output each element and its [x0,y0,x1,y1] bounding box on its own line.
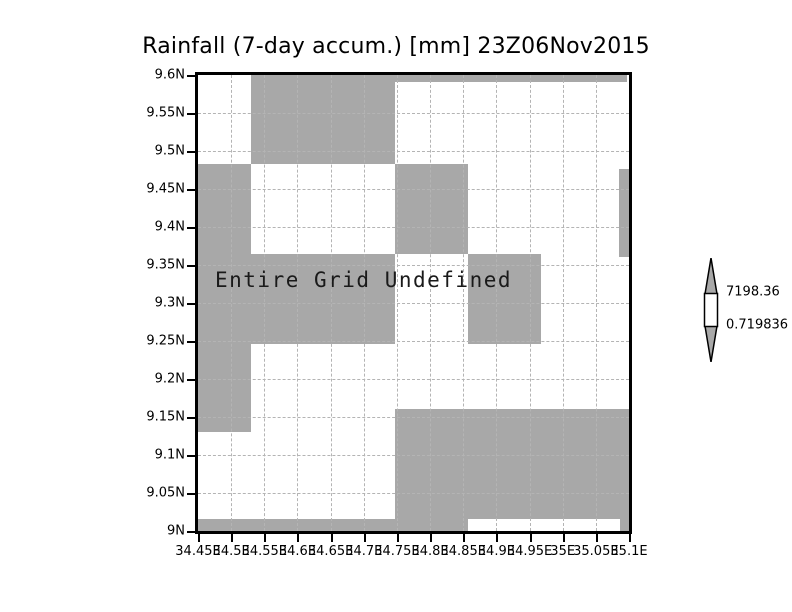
heatmap-cell [395,519,468,531]
y-axis-tick-label: 9.55N [146,106,185,121]
heatmap-cell [395,164,468,254]
x-axis-tick-label: 34.95E [507,544,552,559]
y-axis-tick-label: 9.25N [146,334,185,349]
gridline-horizontal [198,417,629,418]
gridline-horizontal [198,113,629,114]
y-axis-tick [187,341,195,343]
x-axis-tick [463,534,465,542]
y-axis-tick-label: 9N [167,524,185,539]
gridline-horizontal [198,189,629,190]
x-axis-tick [331,534,333,542]
y-axis-tick-label: 9.3N [155,296,185,311]
y-axis-tick-label: 9.6N [155,68,185,83]
y-axis-tick [187,379,195,381]
x-axis-tick [364,534,366,542]
x-axis-tick-label: 35.1E [610,544,647,559]
x-axis-tick [264,534,266,542]
gridline-horizontal [198,151,629,152]
x-axis-tick [430,534,432,542]
y-axis-tick [187,493,195,495]
x-axis-tick [530,534,532,542]
y-axis-labels: 9.6N9.55N9.5N9.45N9.4N9.35N9.3N9.25N9.2N… [60,0,185,612]
y-axis-tick-label: 9.2N [155,372,185,387]
y-axis-tick-label: 9.45N [146,182,185,197]
colorbar-swatch [700,258,722,362]
y-axis-tick [187,75,195,77]
heatmap-cell [620,519,629,531]
heatmap-cell [198,164,251,254]
colorbar-icon [700,258,722,362]
y-axis-tick [187,417,195,419]
gridline-horizontal [198,455,629,456]
plot-frame: Entire Grid Undefined [195,72,632,534]
gridline-horizontal [198,265,629,266]
y-axis-tick-label: 9.35N [146,258,185,273]
heatmap-cell [619,169,629,258]
x-axis-tick [231,534,233,542]
x-axis-tick-label: 35E [550,544,575,559]
y-axis-tick [187,303,195,305]
y-axis-tick [187,531,195,533]
gridline-horizontal [198,341,629,342]
gridline-horizontal [198,303,629,304]
gridline-horizontal [198,493,629,494]
x-axis-tick [596,534,598,542]
y-axis-tick-label: 9.4N [155,220,185,235]
gridline-horizontal [198,227,629,228]
x-axis-tick [496,534,498,542]
undefined-message: Entire Grid Undefined [215,268,512,292]
x-axis-tick [198,534,200,542]
y-axis-tick-label: 9.05N [146,486,185,501]
y-axis-tick [187,189,195,191]
colorbar-lower-value: 0.719836 [726,318,788,333]
y-axis-tick-label: 9.15N [146,410,185,425]
y-axis-tick [187,455,195,457]
x-axis-tick [629,534,631,542]
x-axis-tick [563,534,565,542]
y-axis-tick [187,265,195,267]
x-axis-tick [397,534,399,542]
heatmap-cell [198,344,251,433]
colorbar-upper-value: 7198.36 [726,285,780,300]
y-axis-tick-label: 9.1N [155,448,185,463]
y-axis-tick [187,151,195,153]
y-axis-tick [187,227,195,229]
x-axis-tick [297,534,299,542]
plot-canvas: Entire Grid Undefined [198,75,629,531]
y-axis-tick-label: 9.5N [155,144,185,159]
gridline-horizontal [198,379,629,380]
y-axis-tick [187,113,195,115]
